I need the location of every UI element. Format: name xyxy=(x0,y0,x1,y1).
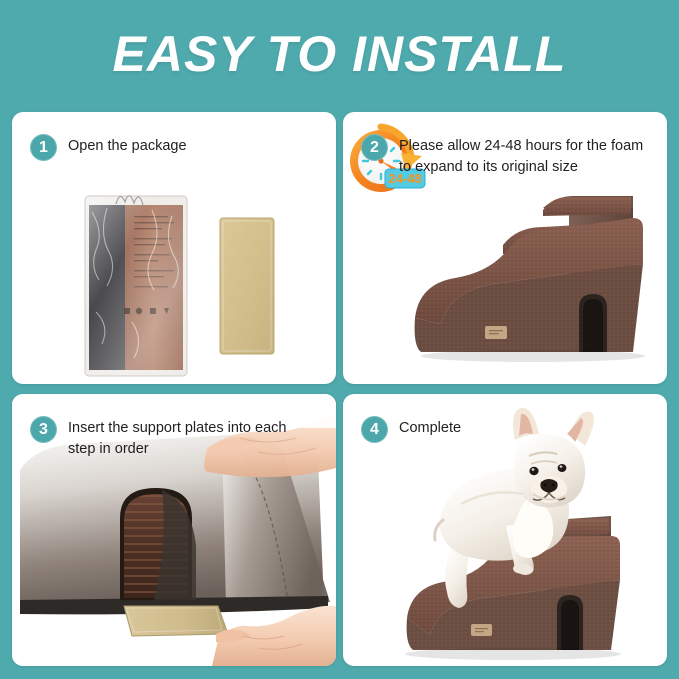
support-plate-inserting xyxy=(124,606,228,636)
step-label-2: Please allow 24-48 hours for the foam to… xyxy=(399,134,644,178)
step-card-4[interactable]: 4 Complete xyxy=(343,394,667,666)
step-badge-2: 2 xyxy=(361,134,388,161)
step-2-header: 2 Please allow 24-48 hours for the foam … xyxy=(361,134,653,178)
step-card-1[interactable]: 1 Open the package xyxy=(12,112,336,384)
step-3-header: 3 Insert the support plates into each st… xyxy=(30,416,322,460)
step-badge-4: 4 xyxy=(361,416,388,443)
step-card-2[interactable]: 24-48 2 Please allow 24-48 hours for the… xyxy=(343,112,667,384)
step-1-header: 1 Open the package xyxy=(30,134,322,161)
step-label-3: Insert the support plates into each step… xyxy=(68,416,313,460)
pet-stairs xyxy=(415,196,645,362)
step-4-header: 4 Complete xyxy=(361,416,653,443)
support-plate xyxy=(220,218,274,354)
step-badge-3: 3 xyxy=(30,416,57,443)
step-label-1: Open the package xyxy=(68,134,187,157)
step-label-4: Complete xyxy=(399,416,461,439)
brand-tag xyxy=(485,326,507,339)
step-card-3[interactable]: 3 Insert the support plates into each st… xyxy=(12,394,336,666)
sealed-poly-bag xyxy=(85,196,187,376)
brand-tag xyxy=(471,624,492,636)
steps-grid: 1 Open the package xyxy=(12,112,667,667)
step-badge-1: 1 xyxy=(30,134,57,161)
arch-opening xyxy=(120,488,196,600)
title-bar: EASY TO INSTALL xyxy=(0,0,679,108)
page-title: EASY TO INSTALL xyxy=(113,29,567,79)
